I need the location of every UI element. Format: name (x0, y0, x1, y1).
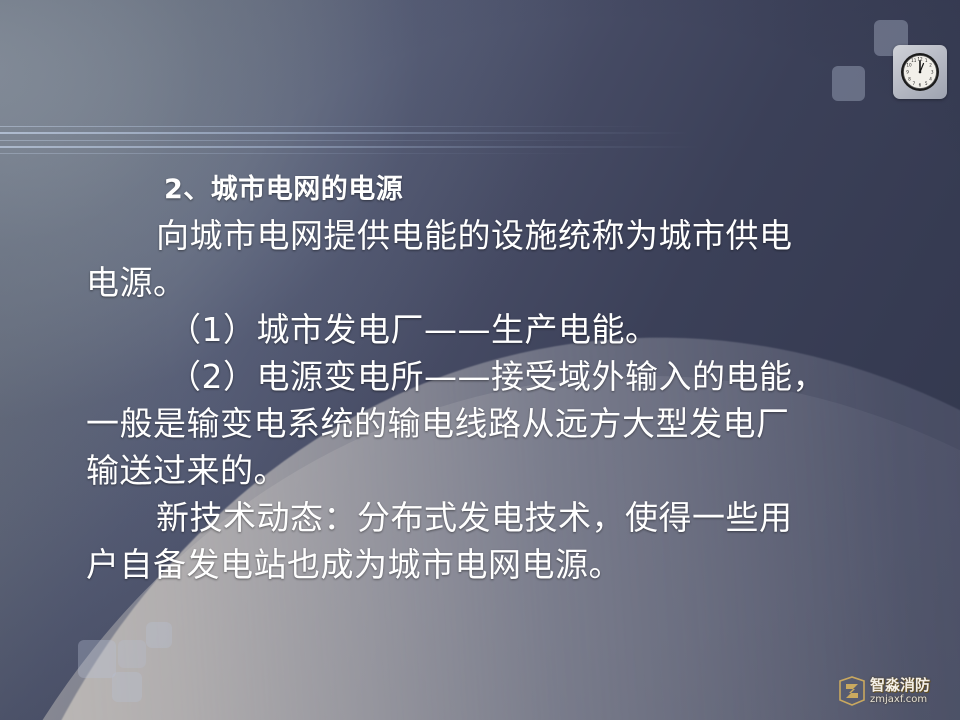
body-line: （2）电源变电所——接受域外输入的电能， (86, 353, 886, 400)
decorative-rule (0, 140, 640, 141)
watermark-brand: 智淼消防 (870, 678, 930, 693)
svg-text:7: 7 (912, 81, 915, 86)
svg-text:6: 6 (919, 83, 922, 88)
svg-text:9: 9 (906, 70, 909, 75)
svg-text:3: 3 (931, 70, 934, 75)
decorative-rule (0, 146, 700, 148)
body-line: 输送过来的。 (86, 447, 886, 494)
slide-text-body: 2、城市电网的电源 向城市电网提供电能的设施统称为城市供电 电源。 （1）城市发… (86, 168, 886, 588)
svg-text:1: 1 (925, 58, 928, 63)
watermark-url: zmjaxf.com (870, 695, 930, 705)
body-line: 电源。 (86, 259, 886, 306)
watermark: 智淼消防 zmjaxf.com (838, 676, 930, 706)
svg-text:11: 11 (911, 58, 917, 63)
body-line: （1）城市发电厂——生产电能。 (86, 306, 886, 353)
decorative-square-top-right (832, 66, 865, 101)
body-line: 一般是输变电系统的输电线路从远方大型发电厂 (86, 400, 886, 447)
body-line: 向城市电网提供电能的设施统称为城市供电 (86, 212, 886, 259)
decorative-rule (0, 132, 690, 134)
svg-text:4: 4 (929, 77, 932, 82)
clock-icon: 12 1 2 3 4 5 6 7 8 9 10 11 (893, 45, 947, 99)
body-line: 户自备发电站也成为城市电网电源。 (86, 541, 886, 588)
decorative-rule (0, 126, 660, 127)
slide-heading: 2、城市电网的电源 (86, 168, 886, 212)
decorative-square-bottom-left (146, 622, 172, 648)
decorative-square-bottom-left (118, 640, 146, 668)
decorative-square-bottom-left (112, 672, 142, 702)
watermark-text: 智淼消防 zmjaxf.com (870, 678, 930, 705)
watermark-logo-icon (838, 676, 866, 706)
svg-text:5: 5 (925, 81, 928, 86)
presentation-slide: 12 1 2 3 4 5 6 7 8 9 10 11 2、城市电网的电源 向城市… (0, 0, 960, 720)
clock-icon-glyph: 12 1 2 3 4 5 6 7 8 9 10 11 (899, 51, 941, 93)
decorative-rule (0, 153, 600, 154)
svg-text:8: 8 (908, 77, 911, 82)
decorative-rules (0, 118, 700, 162)
svg-text:2: 2 (929, 62, 932, 67)
decorative-square-bottom-left (78, 640, 116, 678)
body-line: 新技术动态：分布式发电技术，使得一些用 (86, 494, 886, 541)
svg-text:10: 10 (906, 62, 912, 67)
